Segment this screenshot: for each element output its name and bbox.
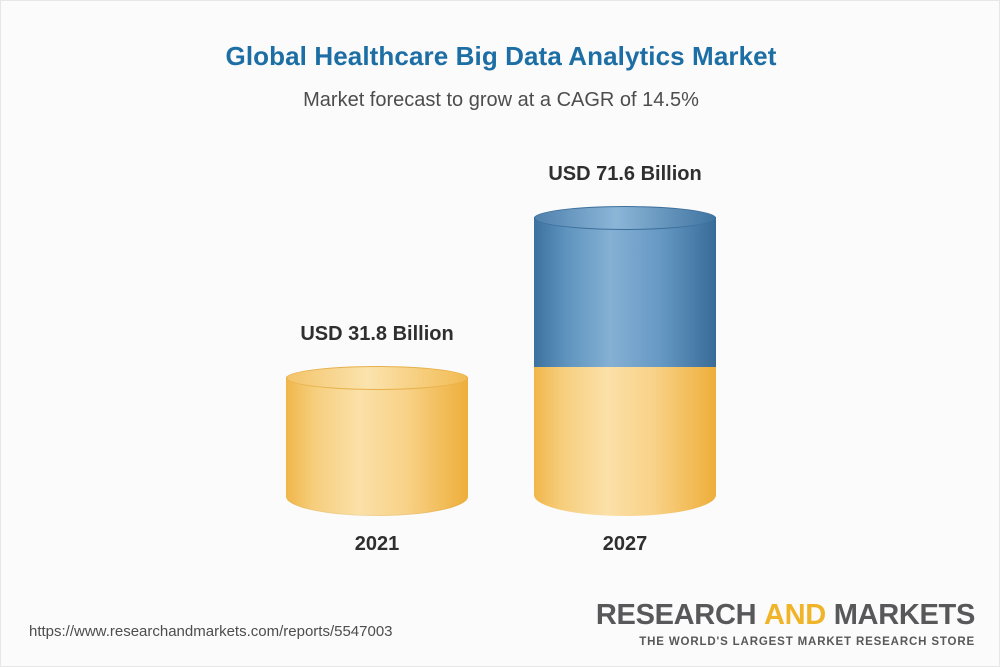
brand-word-markets: MARKETS [834,599,975,631]
chart-page: Global Healthcare Big Data Analytics Mar… [0,0,1000,667]
brand-word-and: AND [764,599,826,631]
source-url[interactable]: https://www.researchandmarkets.com/repor… [29,623,393,640]
value-label-2021: USD 31.8 Billion [227,323,527,346]
bar-2027-growth-segment [534,217,716,367]
bar-2027-top-ellipse [534,206,716,230]
bar-2021 [286,366,468,516]
bar-2027 [534,206,716,516]
bar-2021-body [286,377,468,516]
page-subtitle: Market forecast to grow at a CAGR of 14.… [1,89,1000,112]
value-label-2027: USD 71.6 Billion [475,163,775,186]
category-label-2027: 2027 [534,533,716,556]
brand-word-research: RESEARCH [596,599,756,631]
bar-2021-top-ellipse [286,366,468,390]
category-label-2021: 2021 [286,533,468,556]
brand-wordmark: RESEARCH AND MARKETS [596,601,975,630]
page-title: Global Healthcare Big Data Analytics Mar… [1,41,1000,72]
bar-2027-base-segment [534,366,716,516]
brand-logo: RESEARCH AND MARKETS THE WORLD'S LARGEST… [596,601,975,648]
bar-chart: USD 31.8 Billion USD 71.6 Billion 2021 2… [1,141,1000,581]
brand-tagline: THE WORLD'S LARGEST MARKET RESEARCH STOR… [596,636,975,648]
